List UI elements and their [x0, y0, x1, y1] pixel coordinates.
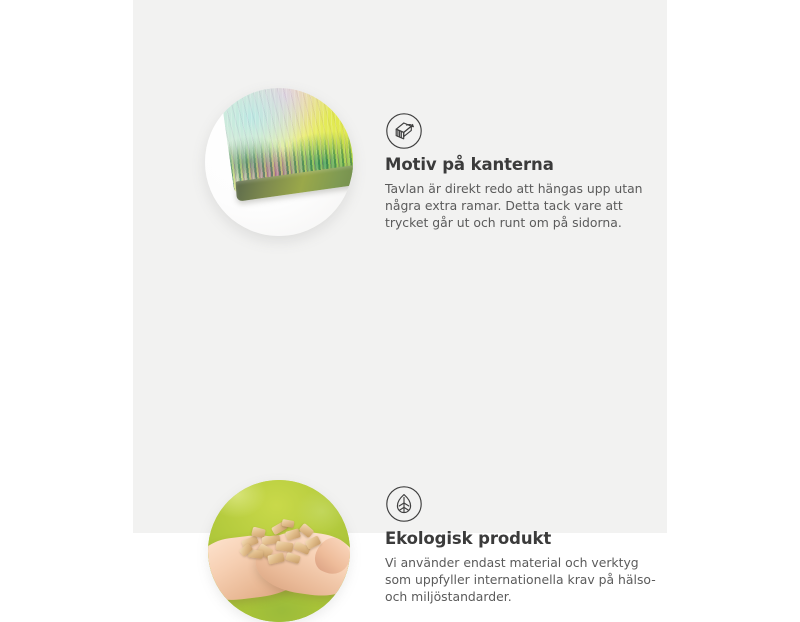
hands-wood-chips-photo	[208, 480, 350, 622]
feature-description: Vi använder endast material och verktyg …	[385, 554, 665, 605]
feature-title: Motiv på kanterna	[385, 155, 554, 174]
canvas-wrap-edges-icon	[385, 112, 423, 150]
feature-title: Ekologisk produkt	[385, 529, 551, 548]
product-feature-graphic: Motiv på kanterna Tavlan är direkt redo …	[0, 0, 800, 533]
feature-eco-product: Ekologisk produkt Vi använder endast mat…	[133, 195, 667, 461]
leaf-icon	[385, 485, 423, 523]
wood-chips-pile	[238, 520, 324, 570]
content-panel: Motiv på kanterna Tavlan är direkt redo …	[133, 0, 667, 533]
